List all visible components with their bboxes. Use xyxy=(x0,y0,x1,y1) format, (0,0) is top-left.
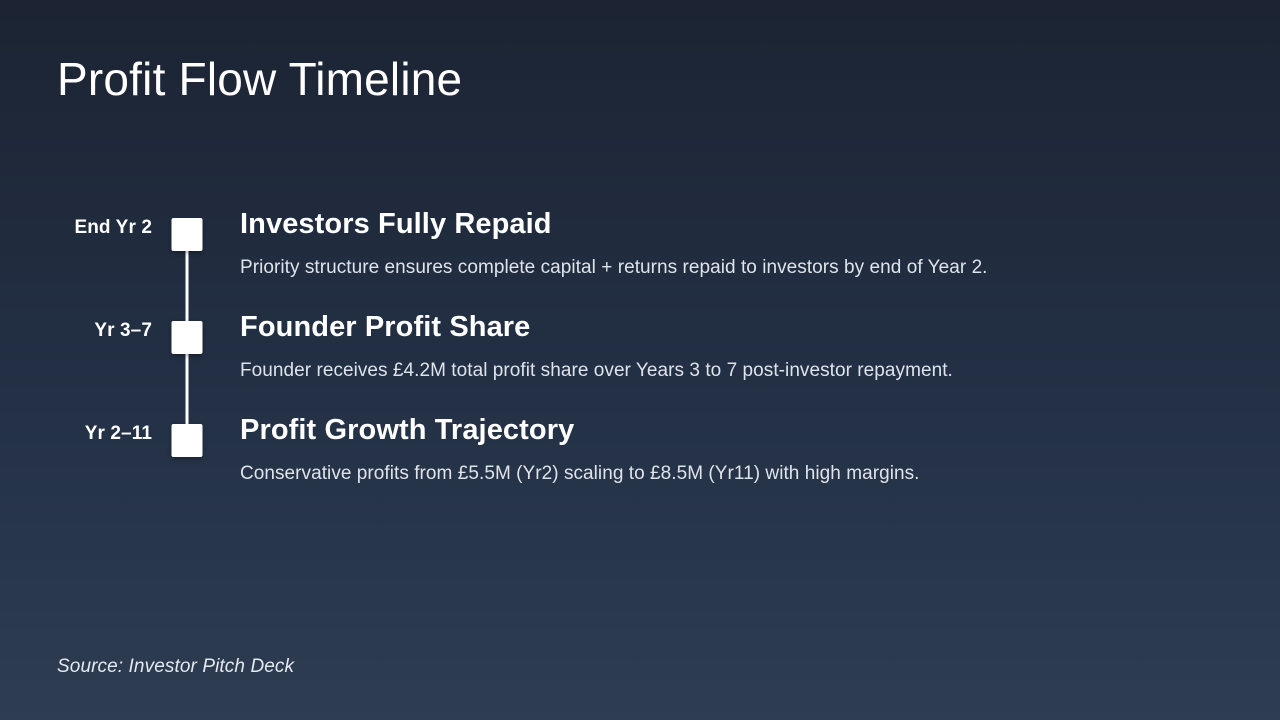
slide-canvas: Profit Flow Timeline End Yr 2 Investors … xyxy=(0,0,1280,720)
timeline-item-content: Founder Profit Share Founder receives £4… xyxy=(208,308,1280,384)
page-title: Profit Flow Timeline xyxy=(57,52,462,107)
timeline-item: End Yr 2 Investors Fully Repaid Priority… xyxy=(0,205,1280,308)
timeline-marker-square xyxy=(171,218,202,251)
timeline-item-content: Profit Growth Trajectory Conservative pr… xyxy=(208,411,1280,487)
timeline-rail xyxy=(165,308,208,411)
timeline: End Yr 2 Investors Fully Repaid Priority… xyxy=(0,205,1280,514)
timeline-item: Yr 3–7 Founder Profit Share Founder rece… xyxy=(0,308,1280,411)
timeline-item-description: Priority structure ensures complete capi… xyxy=(240,255,1280,281)
timeline-item-description: Founder receives £4.2M total profit shar… xyxy=(240,358,1280,384)
timeline-item-heading: Profit Growth Trajectory xyxy=(240,413,1280,448)
timeline-item-heading: Investors Fully Repaid xyxy=(240,207,1280,242)
timeline-rail xyxy=(165,411,208,514)
timeline-item-content: Investors Fully Repaid Priority structur… xyxy=(208,205,1280,281)
timeline-period-label: Yr 2–11 xyxy=(0,411,165,445)
timeline-marker-square xyxy=(171,424,202,457)
timeline-item-heading: Founder Profit Share xyxy=(240,310,1280,345)
timeline-item-description: Conservative profits from £5.5M (Yr2) sc… xyxy=(240,461,1280,487)
timeline-rail xyxy=(165,205,208,308)
timeline-period-label: Yr 3–7 xyxy=(0,308,165,342)
timeline-item: Yr 2–11 Profit Growth Trajectory Conserv… xyxy=(0,411,1280,514)
source-note: Source: Investor Pitch Deck xyxy=(57,656,294,678)
timeline-period-label: End Yr 2 xyxy=(0,205,165,239)
timeline-marker-square xyxy=(171,321,202,354)
